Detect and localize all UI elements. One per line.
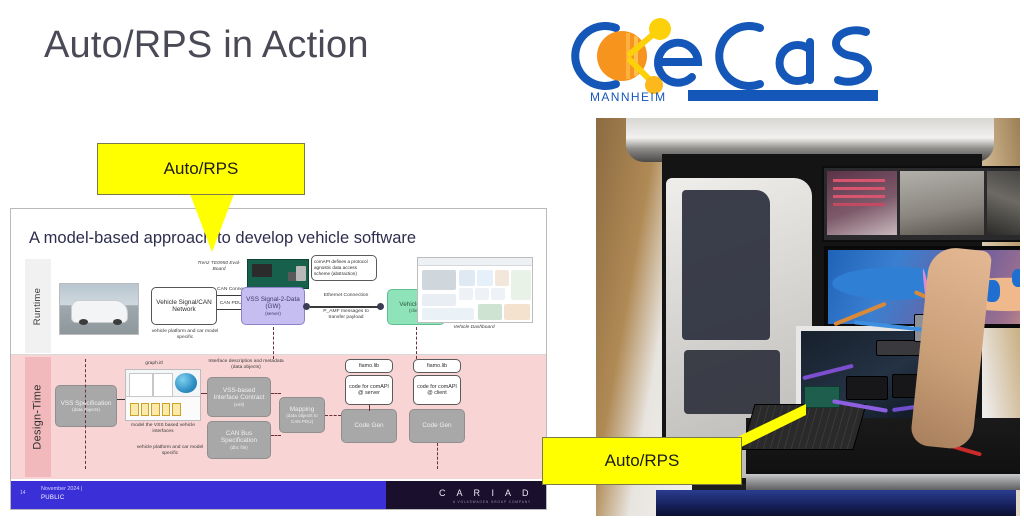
vss-signal-2-data-gw-sublabel: (server) bbox=[265, 311, 281, 316]
comapi-note-box: comAPI defines a protocol agnostic data … bbox=[311, 255, 377, 281]
ethernet-line bbox=[310, 306, 378, 308]
callout-auto-rps-diagram[interactable]: Auto/RPS bbox=[97, 143, 305, 195]
photo-pcb-1 bbox=[804, 386, 840, 408]
vehicle-dashboard-caption: Vehicle Dashboard bbox=[429, 325, 519, 331]
runtime-label-text: Runtime bbox=[33, 287, 44, 324]
code-gen-server-node[interactable]: Code Gen bbox=[341, 409, 397, 443]
vss-based-interface-contract-sublabel: (xml) bbox=[234, 402, 244, 407]
platform-specific-caption: vehicle platform and car model specific bbox=[129, 445, 211, 457]
code-for-comapi-server-node[interactable]: code for comAPI @ server bbox=[345, 375, 393, 405]
connector-vss-editor bbox=[117, 399, 125, 400]
mapping-sublabel: (data objects to CAN PDU) bbox=[282, 413, 322, 423]
dashed-link-mapping-codegen bbox=[325, 415, 341, 416]
dashed-link-vss bbox=[85, 359, 86, 469]
cecas-logo-svg: MANNHEIM bbox=[548, 6, 878, 106]
dashed-link-editor-contract bbox=[201, 393, 207, 394]
design-time-label-text: Design-Time bbox=[32, 384, 44, 449]
page-title: Auto/RPS in Action bbox=[44, 24, 369, 67]
trenz-board-caption: Trenz TE0950 Eval-Board bbox=[193, 261, 245, 273]
vss-based-interface-contract-node[interactable]: VSS-based Interface Contract (xml) bbox=[207, 377, 271, 417]
design-time-rail-label: Design-Time bbox=[25, 357, 51, 477]
footer-classification: PUBLIC bbox=[41, 495, 64, 501]
code-for-comapi-client-label: code for comAPI @ client bbox=[416, 384, 458, 396]
callout-1-tail bbox=[190, 194, 234, 252]
dashed-link-server-code bbox=[369, 405, 370, 411]
document-footer: 14 November 2024 | PUBLIC C A R I A D A … bbox=[11, 481, 547, 509]
photo-ecu-box-1 bbox=[846, 376, 888, 400]
ethernet-connection-caption: Ethernet Connection bbox=[315, 293, 377, 299]
vss-signal-2-data-gw-node[interactable]: VSS Signal-2-Data (GW) (server) bbox=[241, 287, 305, 325]
can-bus-specification-sublabel: (dbc file) bbox=[230, 445, 248, 450]
photo-upper-display-array bbox=[822, 166, 1020, 242]
callout-auto-rps-photo[interactable]: Auto/RPS bbox=[542, 437, 742, 485]
can-bus-specification-label: CAN Bus Specification bbox=[210, 430, 268, 444]
logo-subtitle-text: MANNHEIM bbox=[590, 90, 667, 104]
vss-specification-label: VSS Specification bbox=[61, 400, 112, 407]
can-bus-specification-node[interactable]: CAN Bus Specification (dbc file) bbox=[207, 421, 271, 459]
endpoint-dot-client bbox=[377, 303, 384, 310]
slide-canvas: Auto/RPS in Action bbox=[0, 0, 1024, 522]
code-gen-client-node[interactable]: Code Gen bbox=[409, 409, 465, 443]
photo-blue-bumper bbox=[656, 490, 1016, 516]
cariad-wordmark: C A R I A D bbox=[439, 488, 533, 498]
footer-page-number: 14 bbox=[20, 490, 26, 496]
graph-editor-caption: graph.itl bbox=[129, 361, 179, 367]
comapi-note-text: comAPI defines a protocol agnostic data … bbox=[314, 259, 374, 277]
fiamo-lib-client-label: fiamo.lib bbox=[427, 363, 447, 369]
vss-signal-2-data-gw-label: VSS Signal-2-Data (GW) bbox=[244, 296, 302, 310]
interface-description-caption: Interface description and metadata (data… bbox=[203, 359, 289, 371]
code-gen-server-label: Code Gen bbox=[354, 422, 383, 429]
cariad-slide-screenshot[interactable]: A model-based approach to develop vehicl… bbox=[10, 208, 547, 510]
logo-blue-bar bbox=[688, 90, 878, 101]
vss-specification-node[interactable]: VSS Specification (data objects) bbox=[55, 385, 117, 427]
dashed-link-canbus-mapping bbox=[271, 435, 281, 436]
runtime-rail-label: Runtime bbox=[25, 259, 51, 353]
pamf-caption: P_AMF messages to transfer payload bbox=[315, 309, 377, 321]
mapping-node[interactable]: Mapping (data objects to CAN PDU) bbox=[279, 397, 325, 433]
vehicle-signal-can-network-node[interactable]: Vehicle Signal/CAN Network bbox=[151, 287, 217, 325]
vehicle-photo-thumbnail bbox=[59, 283, 139, 335]
endpoint-dot-server bbox=[303, 303, 310, 310]
mapping-label: Mapping bbox=[290, 406, 315, 413]
photo-rail-edge bbox=[746, 474, 1020, 490]
fiamo-lib-server-label: fiamo.lib bbox=[359, 363, 379, 369]
vehicle-dashboard-thumbnail bbox=[417, 257, 533, 323]
cecas-logo: MANNHEIM bbox=[548, 6, 878, 106]
code-for-comapi-server-label: code for comAPI @ server bbox=[348, 384, 390, 396]
code-gen-client-label: Code Gen bbox=[422, 422, 451, 429]
code-for-comapi-client-node[interactable]: code for comAPI @ client bbox=[413, 375, 461, 405]
footer-date: November 2024 | bbox=[41, 486, 82, 492]
graph-editor-thumbnail bbox=[125, 369, 201, 421]
vehicle-signal-can-network-label: Vehicle Signal/CAN Network bbox=[154, 299, 214, 313]
model-vss-caption: model the VSS based vehicle interfaces bbox=[121, 423, 205, 435]
cariad-tagline: A VOLKSWAGEN GROUP COMPANY bbox=[453, 500, 531, 504]
photo-seat-panel-upper bbox=[682, 190, 770, 340]
fiamo-lib-client-node[interactable]: fiamo.lib bbox=[413, 359, 461, 373]
fiamo-lib-server-node[interactable]: fiamo.lib bbox=[345, 359, 393, 373]
dashed-link-client-code bbox=[437, 443, 438, 469]
vehicle-platform-caption: vehicle platform and car model specific bbox=[147, 329, 223, 341]
vss-specification-sublabel: (data objects) bbox=[72, 407, 100, 412]
dashed-link-app bbox=[416, 327, 417, 359]
vss-based-interface-contract-label: VSS-based Interface Contract bbox=[210, 387, 268, 401]
trenz-eval-board-thumbnail bbox=[247, 259, 309, 289]
dashed-link-gw bbox=[273, 327, 274, 359]
dashed-link-contract-mapping bbox=[271, 393, 281, 394]
